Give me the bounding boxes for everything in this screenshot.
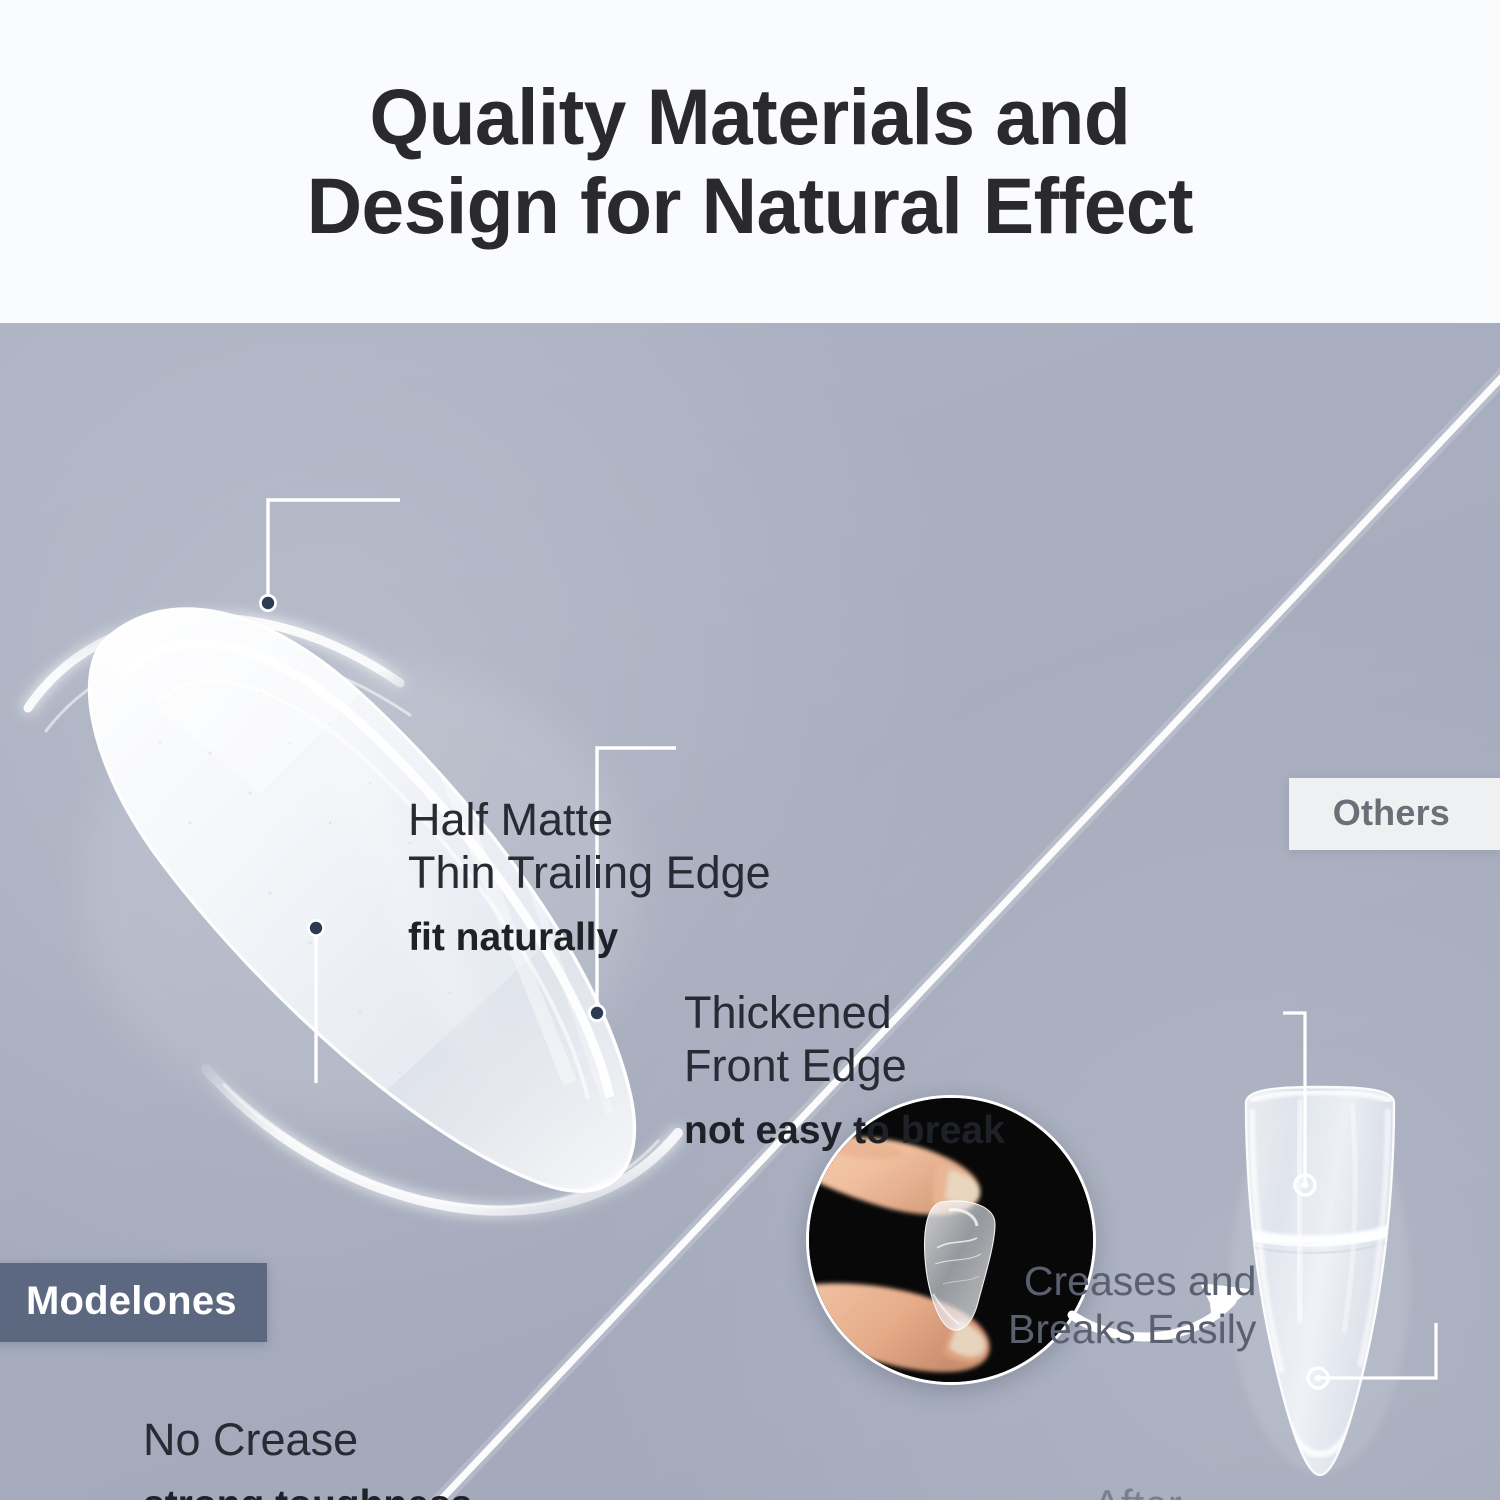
annotation-half-matte-line1: Half Matte xyxy=(408,793,771,846)
annotation-thickened-front-edge: Thickened Front Edge not easy to break xyxy=(684,986,1005,1153)
annotation-no-crease: No Crease strong toughness xyxy=(143,1413,472,1500)
annotation-half-matte-sub: fit naturally xyxy=(408,916,771,960)
others-badge: Others xyxy=(1289,778,1500,850)
page-title-line1: Quality Materials and xyxy=(307,73,1193,161)
annotation-creases-breaks: Creases and Breaks Easily xyxy=(1008,1258,1256,1353)
annotation-creases-line2: Breaks Easily xyxy=(1008,1306,1256,1354)
comparison-panel: Half Matte Thin Trailing Edge fit natura… xyxy=(0,323,1500,1500)
page-title: Quality Materials and Design for Natural… xyxy=(307,73,1193,250)
annotation-no-crease-line1: No Crease xyxy=(143,1413,472,1466)
annotation-creases-line1: Creases and xyxy=(1008,1258,1256,1306)
header-banner: Quality Materials and Design for Natural… xyxy=(0,0,1500,323)
page-title-line2: Design for Natural Effect xyxy=(307,162,1193,250)
annotation-thickened-line2: Front Edge xyxy=(684,1039,1005,1092)
annotation-half-matte-line2: Thin Trailing Edge xyxy=(408,846,771,899)
annotation-no-crease-sub: strong toughness xyxy=(143,1483,472,1500)
annotation-after-bend: After Bend xyxy=(1093,1480,1191,1500)
infographic-page: Quality Materials and Design for Natural… xyxy=(0,0,1500,1500)
annotation-half-matte: Half Matte Thin Trailing Edge fit natura… xyxy=(408,793,771,960)
brand-badge-modelones: Modelones xyxy=(0,1263,267,1342)
annotation-after-bend-line1: After xyxy=(1093,1480,1191,1500)
annotation-thickened-sub: not easy to break xyxy=(684,1109,1005,1153)
annotation-thickened-line1: Thickened xyxy=(684,986,1005,1039)
